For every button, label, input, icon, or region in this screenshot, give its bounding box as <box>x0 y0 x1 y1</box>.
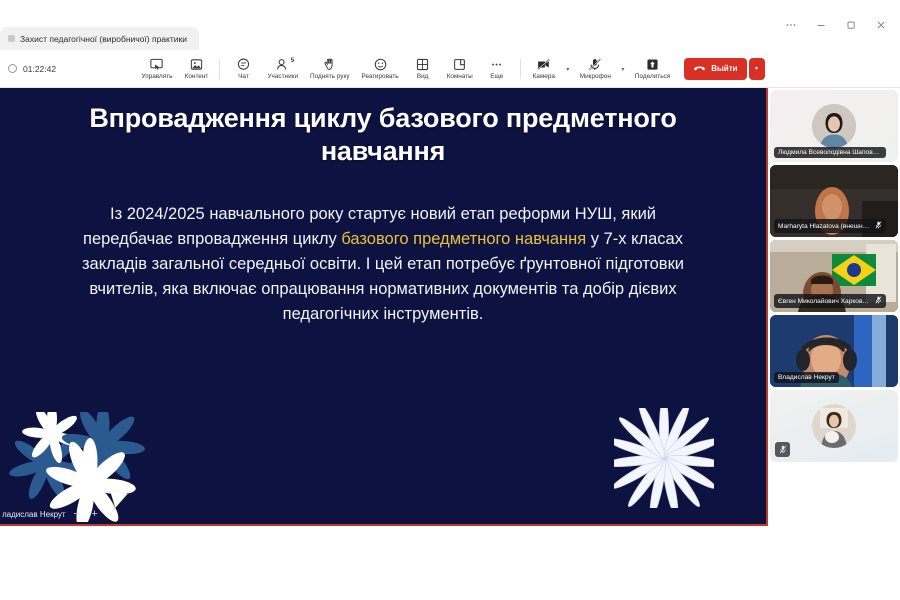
recording-status-icon <box>8 64 17 73</box>
toolbar-button-microphone[interactable]: Микрофон <box>574 56 617 81</box>
toolbar-divider-1 <box>219 59 220 79</box>
participant-tile-2[interactable]: Marharyta Hlazatova (внешний) <box>770 165 898 237</box>
toolbar-button-camera[interactable]: Камера <box>526 56 562 81</box>
meeting-toolbar: 01:22:42 Управлять Контент Чат <box>0 50 900 88</box>
toolbar-button-reactions[interactable]: Реагировать <box>356 56 405 81</box>
camera-off-icon <box>536 57 552 72</box>
content-image-icon <box>189 57 204 72</box>
camera-control-group: Камера ▾ <box>526 56 574 82</box>
slide-body-highlight: базового предметного навчання <box>341 230 586 248</box>
toolbar-label-microphone: Микрофон <box>580 73 611 80</box>
toolbar-button-participants[interactable]: 5 Участники <box>261 56 304 81</box>
toolbar-button-share[interactable]: Поделиться <box>629 56 676 81</box>
participant-tile-4[interactable]: Владислав Некрут <box>770 315 898 387</box>
participant-tile-4-name: Владислав Некрут <box>774 372 839 383</box>
toolbar-label-rooms: Комнаты <box>447 73 473 80</box>
mic-off-icon <box>775 442 790 457</box>
presenter-bar: ладислав Некрут − + <box>0 505 110 524</box>
leave-meeting-button[interactable]: Выйти <box>684 58 746 80</box>
toolbar-center-group: Управлять Контент Чат 5 Уч <box>135 56 764 82</box>
toolbar-button-manage[interactable]: Управлять <box>135 56 178 81</box>
meeting-stage: Впровадження циклу базового предметного … <box>0 88 900 526</box>
toolbar-label-participants: Участники <box>267 73 298 80</box>
bottom-band <box>0 526 900 600</box>
participant-tile-3-name: Євген Миколайович Харковсь... <box>774 294 886 308</box>
chat-bubble-icon <box>236 57 251 72</box>
close-icon[interactable] <box>866 13 896 37</box>
participants-icon: 5 <box>275 57 290 72</box>
slide-body: Із 2024/2025 навчального року стартує но… <box>78 202 688 327</box>
participants-count-badge: 5 <box>291 58 294 64</box>
toolbar-label-view: Вид <box>417 73 429 80</box>
manage-screen-icon <box>149 57 164 72</box>
toolbar-label-content: Контент <box>185 73 209 80</box>
toolbar-label-reactions: Реагировать <box>362 73 399 80</box>
layout-grid-icon <box>415 57 430 72</box>
mic-off-icon <box>875 296 882 306</box>
camera-chevron-down-icon[interactable]: ▾ <box>562 58 574 82</box>
mic-off-icon <box>875 221 882 231</box>
toolbar-label-chat: Чат <box>238 73 249 80</box>
breakout-rooms-icon <box>452 57 467 72</box>
hangup-phone-icon <box>693 63 706 75</box>
window-controls <box>776 13 896 37</box>
toolbar-button-raise-hand[interactable]: Поднять руку <box>304 56 356 81</box>
toolbar-button-content[interactable]: Контент <box>178 56 214 81</box>
shared-content-area[interactable]: Впровадження циклу базового предметного … <box>0 88 768 526</box>
tab-title: Захист педагогічної (виробничої) практик… <box>20 34 187 44</box>
participant-name-label: Владислав Некрут <box>778 374 835 381</box>
meeting-timer: 01:22:42 <box>8 64 56 74</box>
participant-tile-1-name: Людмила Всеволодівна Шаповало... <box>774 147 886 158</box>
mic-off-icon <box>587 57 603 72</box>
meeting-timer-value: 01:22:42 <box>23 64 56 74</box>
participant-name-label: Marharyta Hlazatova (внешний) <box>778 223 872 230</box>
toolbar-label-more: Еще <box>490 73 503 80</box>
participant-tile-5[interactable] <box>770 390 898 462</box>
presenter-name: ладислав Некрут <box>2 510 66 519</box>
tab-favicon-icon <box>8 35 15 42</box>
title-bar: Захист педагогічної (виробничої) практик… <box>0 0 900 50</box>
raise-hand-icon <box>322 57 337 72</box>
tab-meeting[interactable]: Захист педагогічної (виробничої) практик… <box>0 27 199 50</box>
toolbar-button-rooms[interactable]: Комнаты <box>441 56 479 81</box>
presentation-slide: Впровадження циклу базового предметного … <box>0 88 766 524</box>
microphone-control-group: Микрофон ▾ <box>574 56 629 82</box>
share-upload-icon <box>645 57 660 72</box>
leave-chevron-down-icon[interactable]: ▾ <box>749 58 765 80</box>
toolbar-button-view[interactable]: Вид <box>405 56 441 81</box>
participant-filmstrip: Людмила Всеволодівна Шаповало... Marhar <box>768 88 900 526</box>
meeting-window: Захист педагогічної (виробничої) практик… <box>0 0 900 600</box>
microphone-chevron-down-icon[interactable]: ▾ <box>617 58 629 82</box>
toolbar-label-manage: Управлять <box>141 73 172 80</box>
more-ellipsis-icon <box>489 57 504 72</box>
toolbar-button-chat[interactable]: Чат <box>225 56 261 81</box>
toolbar-divider-2 <box>520 59 521 79</box>
participant-name-label: Євген Миколайович Харковсь... <box>778 298 872 305</box>
mouse-cursor-pointer <box>107 490 128 509</box>
more-options-icon[interactable] <box>776 13 806 37</box>
avatar <box>812 104 856 148</box>
tab-strip: Захист педагогічної (виробничої) практик… <box>0 27 199 50</box>
toolbar-label-share: Поделиться <box>635 73 670 80</box>
toolbar-label-camera: Камера <box>533 73 555 80</box>
participant-tile-3[interactable]: Євген Миколайович Харковсь... <box>770 240 898 312</box>
participant-name-label: Людмила Всеволодівна Шаповало... <box>778 149 882 156</box>
toolbar-button-more[interactable]: Еще <box>479 56 515 81</box>
participant-tile-2-name: Marharyta Hlazatova (внешний) <box>774 219 886 233</box>
reactions-smiley-icon <box>373 57 388 72</box>
zoom-in-button[interactable]: + <box>88 508 102 520</box>
toolbar-label-raise-hand: Поднять руку <box>310 73 350 80</box>
participant-tile-1[interactable]: Людмила Всеволодівна Шаповало... <box>770 90 898 162</box>
zoom-out-button[interactable]: − <box>70 508 84 520</box>
leave-meeting-label: Выйти <box>711 64 737 73</box>
minimize-icon[interactable] <box>806 13 836 37</box>
slide-title: Впровадження циклу базового предметного … <box>36 102 730 168</box>
avatar <box>812 404 856 448</box>
maximize-icon[interactable] <box>836 13 866 37</box>
